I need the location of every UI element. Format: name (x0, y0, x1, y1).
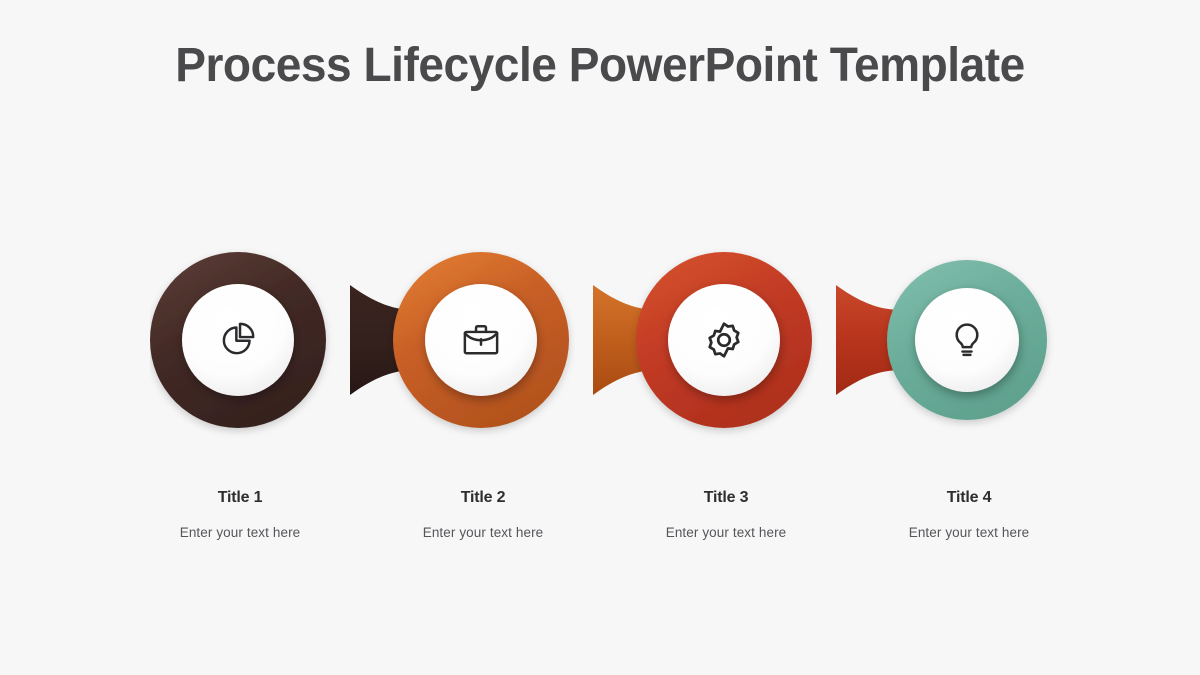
slide-canvas: Process Lifecycle PowerPoint Template (0, 0, 1200, 675)
step-title-3: Title 3 (596, 488, 856, 508)
step-title-4: Title 4 (839, 488, 1099, 508)
step-title-1: Title 1 (110, 488, 370, 508)
step-node-1[interactable] (150, 252, 326, 428)
step-caption-1: Title 1 Enter your text here (110, 488, 370, 542)
page-title: Process Lifecycle PowerPoint Template (24, 38, 1176, 93)
step-node-3[interactable] (636, 252, 812, 428)
step-caption-4: Title 4 Enter your text here (839, 488, 1099, 542)
step-node-2[interactable] (393, 252, 569, 428)
process-lifecycle-diagram (150, 240, 1070, 440)
diagram-graphics (150, 240, 1070, 440)
step-body-1[interactable]: Enter your text here (110, 524, 370, 542)
step-body-4[interactable]: Enter your text here (839, 524, 1099, 542)
step-body-3[interactable]: Enter your text here (596, 524, 856, 542)
step-caption-2: Title 2 Enter your text here (353, 488, 613, 542)
step-title-2: Title 2 (353, 488, 613, 508)
step-captions: Title 1 Enter your text here Title 2 Ent… (110, 488, 1090, 568)
step-body-2[interactable]: Enter your text here (353, 524, 613, 542)
step-caption-3: Title 3 Enter your text here (596, 488, 856, 542)
step-node-4[interactable] (887, 260, 1047, 420)
